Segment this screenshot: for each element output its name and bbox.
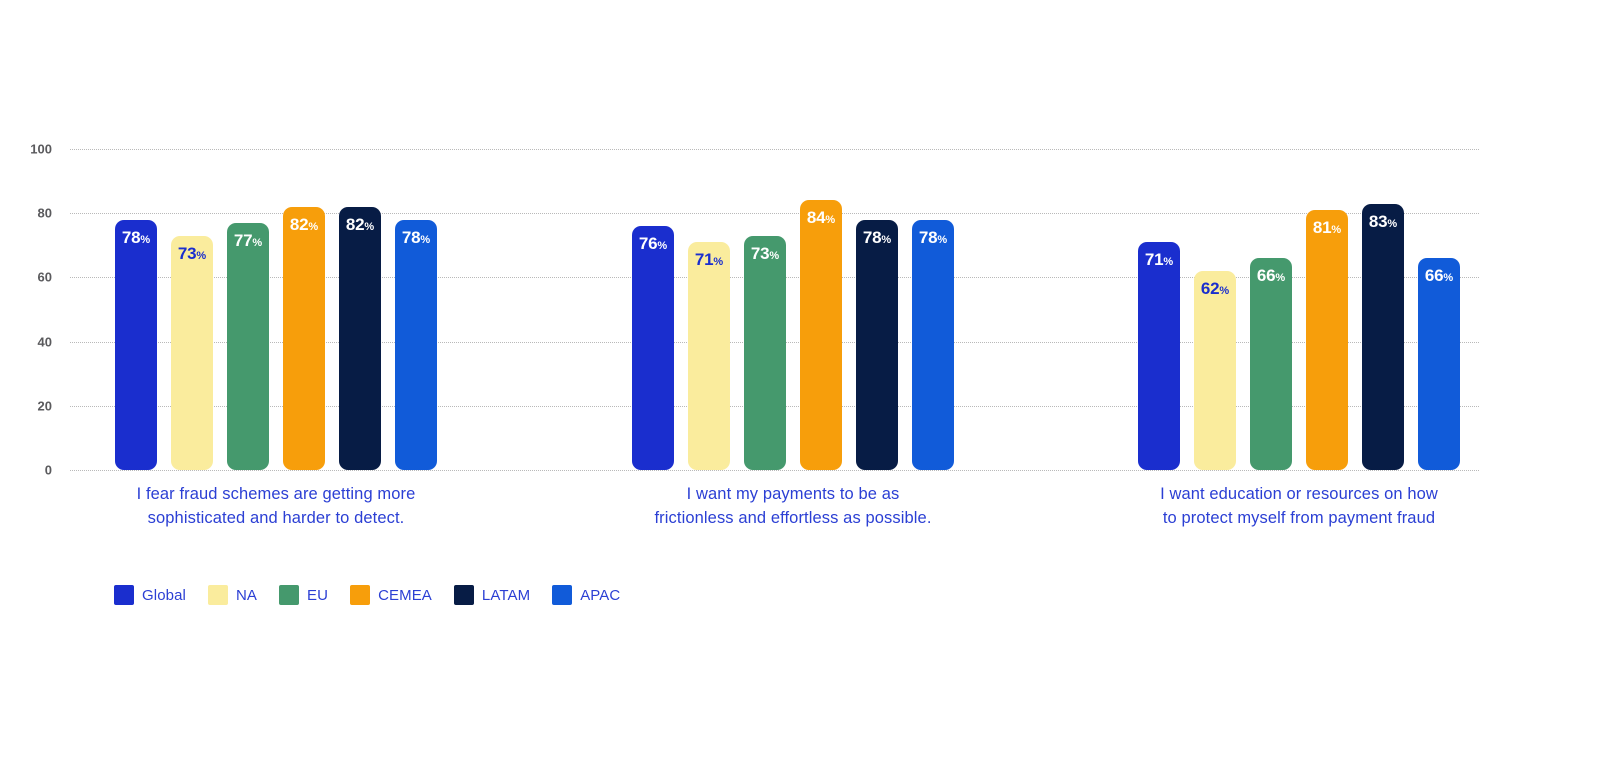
legend-item-latam[interactable]: LATAM bbox=[454, 585, 530, 605]
legend-label: NA bbox=[236, 587, 257, 604]
bar-value-label: 62% bbox=[1194, 280, 1236, 297]
bars-layer: 78%73%77%82%82%78%76%71%73%84%78%78%71%6… bbox=[70, 149, 1479, 470]
bar-eu-group-2[interactable]: 73% bbox=[744, 236, 786, 470]
bar-value-label: 82% bbox=[283, 216, 325, 233]
bar-cemea-group-3[interactable]: 81% bbox=[1306, 210, 1348, 470]
bar-group-1: 78%73%77%82%82%78% bbox=[115, 149, 437, 470]
bar-value-label: 66% bbox=[1418, 267, 1460, 284]
bar-value-label: 82% bbox=[339, 216, 381, 233]
bar-cemea-group-1[interactable]: 82% bbox=[283, 207, 325, 470]
bar-value-label: 84% bbox=[800, 209, 842, 226]
bar-value-label: 73% bbox=[171, 245, 213, 262]
bar-value-label: 78% bbox=[912, 229, 954, 246]
plot-area: 78%73%77%82%82%78%76%71%73%84%78%78%71%6… bbox=[70, 149, 1479, 470]
bar-value-label: 83% bbox=[1362, 213, 1404, 230]
category-label-3: I want education or resources on howto p… bbox=[1098, 482, 1500, 530]
y-axis-tick-40: 40 bbox=[0, 334, 52, 349]
bar-apac-group-2[interactable]: 78% bbox=[912, 220, 954, 470]
bar-eu-group-3[interactable]: 66% bbox=[1250, 258, 1292, 470]
bar-value-label: 81% bbox=[1306, 219, 1348, 236]
legend-swatch-eu-icon bbox=[279, 585, 299, 605]
bar-value-label: 71% bbox=[1138, 251, 1180, 268]
bar-apac-group-1[interactable]: 78% bbox=[395, 220, 437, 470]
bar-value-label: 77% bbox=[227, 232, 269, 249]
bar-group-2: 76%71%73%84%78%78% bbox=[632, 149, 954, 470]
bar-value-label: 73% bbox=[744, 245, 786, 262]
bar-value-label: 78% bbox=[115, 229, 157, 246]
category-label-line-1: I want education or resources on how bbox=[1098, 482, 1500, 506]
bar-global-group-1[interactable]: 78% bbox=[115, 220, 157, 470]
legend-swatch-na-icon bbox=[208, 585, 228, 605]
bar-chart: 020406080100 78%73%77%82%82%78%76%71%73%… bbox=[0, 0, 1600, 768]
legend-label: LATAM bbox=[482, 587, 530, 604]
bar-value-label: 78% bbox=[395, 229, 437, 246]
legend-swatch-cemea-icon bbox=[350, 585, 370, 605]
y-axis-tick-80: 80 bbox=[0, 206, 52, 221]
category-label-line-1: I want my payments to be as bbox=[592, 482, 994, 506]
legend-swatch-latam-icon bbox=[454, 585, 474, 605]
category-label-line-1: I fear fraud schemes are getting more bbox=[75, 482, 477, 506]
y-axis-tick-20: 20 bbox=[0, 398, 52, 413]
legend-swatch-apac-icon bbox=[552, 585, 572, 605]
bar-global-group-3[interactable]: 71% bbox=[1138, 242, 1180, 470]
bar-global-group-2[interactable]: 76% bbox=[632, 226, 674, 470]
bar-value-label: 76% bbox=[632, 235, 674, 252]
bar-value-label: 66% bbox=[1250, 267, 1292, 284]
legend-item-apac[interactable]: APAC bbox=[552, 585, 620, 605]
category-label-2: I want my payments to be asfrictionless … bbox=[592, 482, 994, 530]
bar-latam-group-2[interactable]: 78% bbox=[856, 220, 898, 470]
bar-na-group-1[interactable]: 73% bbox=[171, 236, 213, 470]
legend-swatch-global-icon bbox=[114, 585, 134, 605]
legend-item-eu[interactable]: EU bbox=[279, 585, 328, 605]
legend-label: CEMEA bbox=[378, 587, 432, 604]
category-label-line-2: frictionless and effortless as possible. bbox=[592, 506, 994, 530]
legend-label: EU bbox=[307, 587, 328, 604]
legend-label: APAC bbox=[580, 587, 620, 604]
bar-value-label: 71% bbox=[688, 251, 730, 268]
gridline-0 bbox=[70, 470, 1479, 471]
bar-cemea-group-2[interactable]: 84% bbox=[800, 200, 842, 470]
legend-item-cemea[interactable]: CEMEA bbox=[350, 585, 432, 605]
bar-latam-group-3[interactable]: 83% bbox=[1362, 204, 1404, 470]
legend-label: Global bbox=[142, 587, 186, 604]
bar-eu-group-1[interactable]: 77% bbox=[227, 223, 269, 470]
bar-latam-group-1[interactable]: 82% bbox=[339, 207, 381, 470]
bar-na-group-2[interactable]: 71% bbox=[688, 242, 730, 470]
bar-apac-group-3[interactable]: 66% bbox=[1418, 258, 1460, 470]
bar-na-group-3[interactable]: 62% bbox=[1194, 271, 1236, 470]
y-axis-tick-0: 0 bbox=[0, 463, 52, 478]
y-axis-tick-100: 100 bbox=[0, 142, 52, 157]
category-labels: I fear fraud schemes are getting moresop… bbox=[70, 482, 1479, 542]
category-label-line-2: to protect myself from payment fraud bbox=[1098, 506, 1500, 530]
legend-item-global[interactable]: Global bbox=[114, 585, 186, 605]
category-label-1: I fear fraud schemes are getting moresop… bbox=[75, 482, 477, 530]
category-label-line-2: sophisticated and harder to detect. bbox=[75, 506, 477, 530]
legend: GlobalNAEUCEMEALATAMAPAC bbox=[114, 585, 642, 605]
bar-group-3: 71%62%66%81%83%66% bbox=[1138, 149, 1460, 470]
legend-item-na[interactable]: NA bbox=[208, 585, 257, 605]
bar-value-label: 78% bbox=[856, 229, 898, 246]
y-axis-tick-60: 60 bbox=[0, 270, 52, 285]
